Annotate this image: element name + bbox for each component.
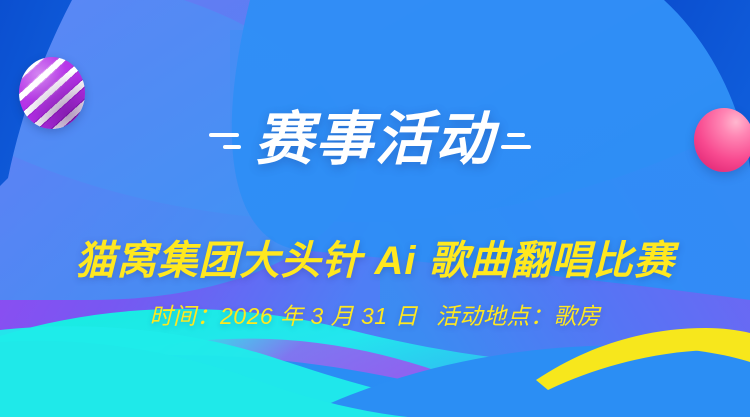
left-dash-top [209,133,239,137]
banner-content: 赛事活动 猫窝集团大头针 Ai 歌曲翻唱比赛 时间：2026 年 3 月 31 … [0,0,750,417]
right-dashes-icon [501,120,541,160]
event-details: 时间：2026 年 3 月 31 日活动地点：歌房 [150,305,601,328]
right-dash-bottom [501,145,531,149]
page-title: 赛事活动 [255,111,495,169]
time-label: 时间： [150,303,221,329]
headline-row: 赛事活动 [209,72,541,208]
left-dashes-icon [209,120,249,160]
place-value: 歌房 [554,303,601,329]
right-dash-top [507,133,525,137]
event-banner: 赛事活动 猫窝集团大头针 Ai 歌曲翻唱比赛 时间：2026 年 3 月 31 … [0,0,750,417]
time-value: 2026 年 3 月 31 日 [220,303,418,329]
place-label: 活动地点： [436,303,554,329]
left-dash-bottom [223,145,241,149]
event-name: 猫窝集团大头针 Ai 歌曲翻唱比赛 [75,241,674,281]
